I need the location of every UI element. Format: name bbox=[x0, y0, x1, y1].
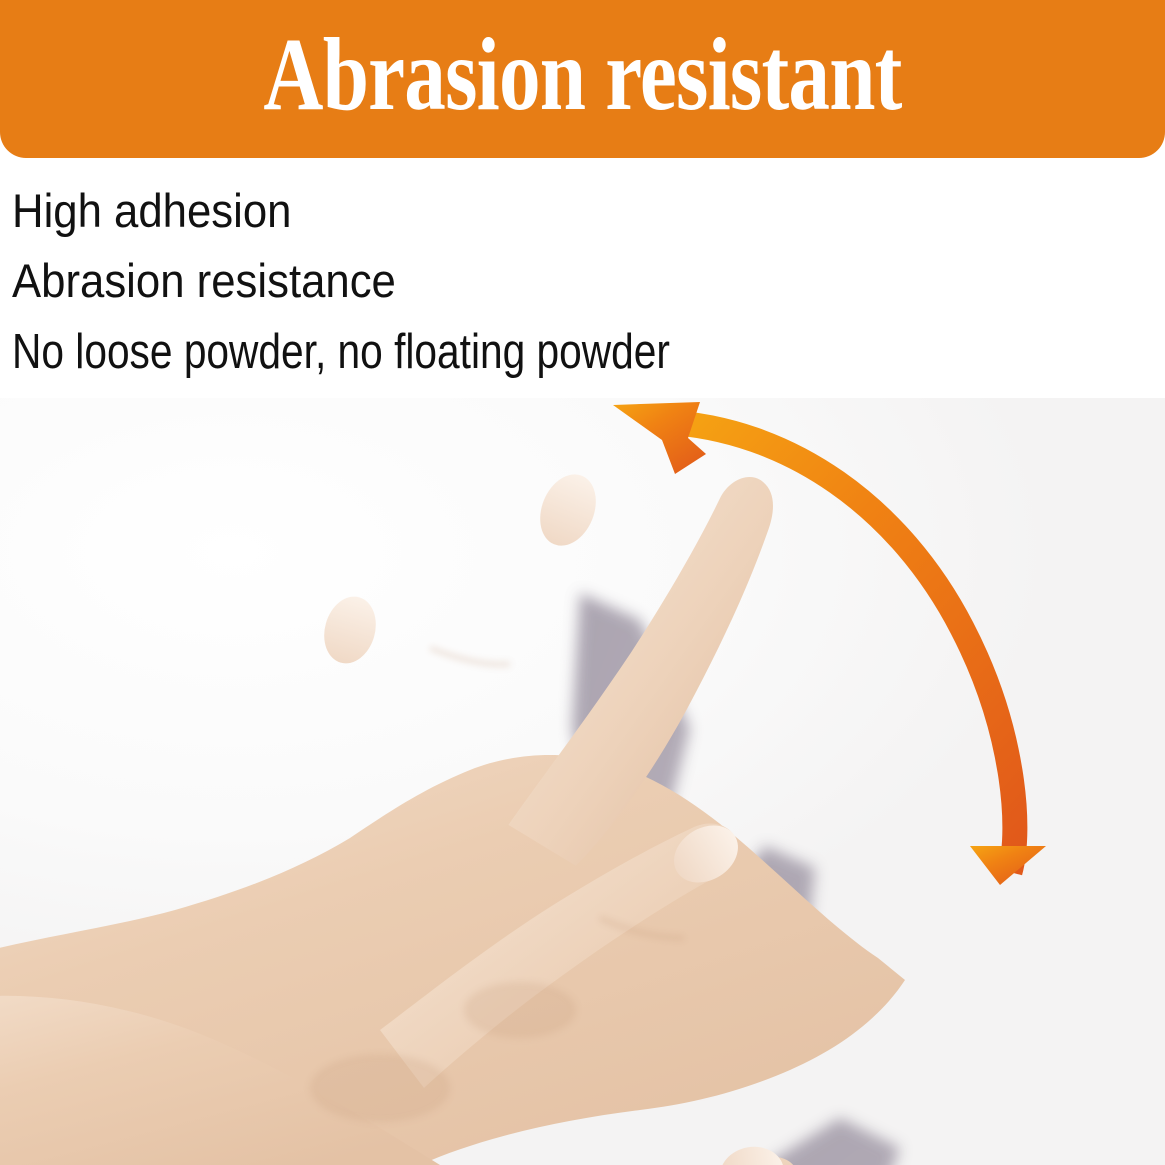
feature-list: High adhesion Abrasion resistance No loo… bbox=[0, 158, 1165, 398]
page-title: Abrasion resistant bbox=[117, 16, 1049, 134]
feature-item-1: High adhesion bbox=[12, 184, 291, 238]
product-infographic: Abrasion resistant High adhesion Abrasio… bbox=[0, 0, 1165, 1165]
feature-item-2: Abrasion resistance bbox=[12, 254, 396, 308]
curved-double-arrow-icon bbox=[0, 398, 1165, 1165]
hand-photo bbox=[0, 398, 1165, 1165]
header-banner: Abrasion resistant bbox=[0, 0, 1165, 158]
feature-item-3: No loose powder, no floating powder bbox=[12, 324, 670, 380]
